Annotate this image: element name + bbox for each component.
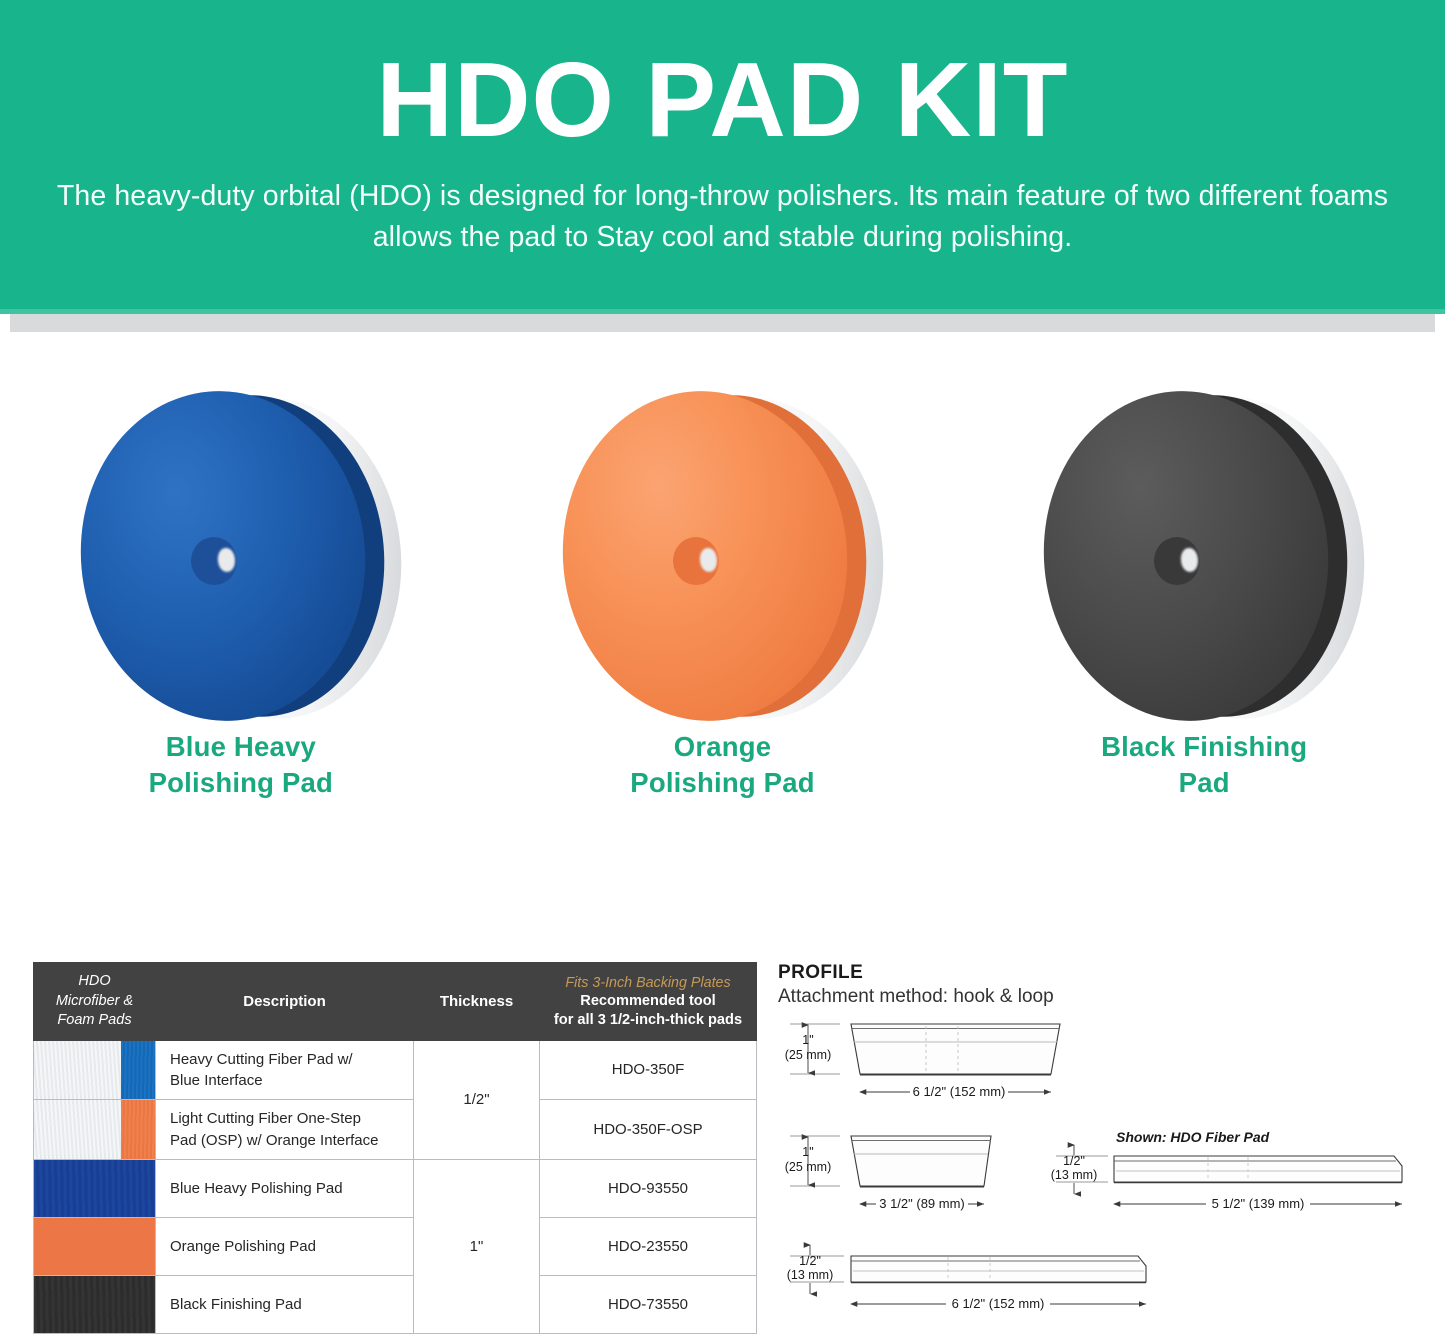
spec-table: HDO Microfiber & Foam Pads Description T…: [33, 962, 757, 1334]
desc-line-1: Light Cutting Fiber One-Step: [170, 1110, 361, 1127]
caption-line-1: Black Finishing: [1101, 731, 1307, 762]
dim-height-in: 1": [802, 1145, 813, 1159]
dim-width: 6 1/2" (152 mm): [913, 1084, 1006, 1099]
row-description: Heavy Cutting Fiber Pad w/ Blue Interfac…: [156, 1040, 414, 1100]
row-tool-code: HDO-350F-OSP: [540, 1100, 757, 1160]
hero-gray-band: [0, 314, 1445, 332]
swatch-header-line-3: Foam Pads: [57, 1012, 131, 1028]
product-blue-heavy-polishing-pad: Blue Heavy Polishing Pad: [0, 345, 482, 885]
table-row: Blue Heavy Polishing Pad 1" HDO-93550: [34, 1159, 757, 1217]
desc-line-2: Pad (OSP) w/ Orange Interface: [170, 1132, 378, 1149]
row-description: Orange Polishing Pad: [156, 1217, 414, 1275]
hero-banner: HDO PAD KIT The heavy-duty orbital (HDO)…: [0, 0, 1445, 309]
row-tool-code: HDO-73550: [540, 1275, 757, 1333]
dim-width: 3 1/2" (89 mm): [879, 1196, 965, 1211]
profile-heading: PROFILE: [778, 962, 1423, 984]
row-description: Light Cutting Fiber One-Step Pad (OSP) w…: [156, 1100, 414, 1160]
desc-line-1: Heavy Cutting Fiber Pad w/: [170, 1051, 353, 1068]
dim-height-in: 1/2": [1063, 1154, 1085, 1168]
backing-plates-note: Fits 3-Inch Backing Plates: [546, 974, 750, 993]
dim-width: 6 1/2" (152 mm): [952, 1296, 1045, 1311]
profile-diagram-foam-6in: 1" (25 mm) 6 1/2" (152 mm): [785, 1024, 1060, 1100]
profile-diagram-fiber-5in: Shown: HDO Fiber Pad 1/2" (13 mm) 5 1/2"…: [1051, 1129, 1402, 1212]
spec-table-body: Heavy Cutting Fiber Pad w/ Blue Interfac…: [34, 1040, 757, 1333]
row-swatch-light-cutting-fiber-osp: [34, 1100, 156, 1160]
shown-label: Shown: HDO Fiber Pad: [1116, 1129, 1270, 1145]
dim-width: 5 1/2" (139 mm): [1212, 1196, 1305, 1211]
row-swatch-blue-heavy-polishing: [34, 1159, 156, 1217]
infographic-page: HDO PAD KIT The heavy-duty orbital (HDO)…: [0, 0, 1445, 1337]
row-swatch-black-finishing: [34, 1275, 156, 1333]
orange-pad-image: [553, 345, 893, 715]
dim-height-in: 1/2": [799, 1254, 821, 1268]
hero-subtitle: The heavy-duty orbital (HDO) is designed…: [55, 176, 1390, 257]
desc-line-2: Blue Interface: [170, 1072, 263, 1089]
dim-height-in: 1": [802, 1033, 813, 1047]
gray-band-notch-left: [0, 314, 10, 332]
table-row: Heavy Cutting Fiber Pad w/ Blue Interfac…: [34, 1040, 757, 1100]
row-description: Black Finishing Pad: [156, 1275, 414, 1333]
spec-table-head: HDO Microfiber & Foam Pads Description T…: [34, 963, 757, 1041]
col-header-recommended-tool: Fits 3-Inch Backing Plates Recommended t…: [540, 963, 757, 1041]
table-row: Black Finishing Pad HDO-73550: [34, 1275, 757, 1333]
swatch-header-line-1: HDO: [78, 973, 110, 989]
desc-line-1: Black Finishing Pad: [170, 1296, 302, 1313]
product-caption: Orange Polishing Pad: [630, 729, 814, 801]
profile-panel: PROFILE Attachment method: hook & loop: [778, 962, 1423, 1334]
caption-line-1: Blue Heavy: [166, 731, 316, 762]
dim-height-mm: (25 mm): [785, 1160, 832, 1174]
col-header-description: Description: [156, 963, 414, 1041]
profile-diagram-fiber-6in: 1/2" (13 mm) 6 1/2" (152 mm): [787, 1245, 1146, 1312]
row-description: Blue Heavy Polishing Pad: [156, 1159, 414, 1217]
product-showcase: Blue Heavy Polishing Pad Orange Polishin…: [0, 345, 1445, 885]
col-header-swatch: HDO Microfiber & Foam Pads: [34, 963, 156, 1041]
product-caption: Black Finishing Pad: [1101, 729, 1307, 801]
table-header-row: HDO Microfiber & Foam Pads Description T…: [34, 963, 757, 1041]
tool-header-line-2: for all 3 1/2-inch-thick pads: [546, 1011, 750, 1029]
dim-height-mm: (13 mm): [787, 1268, 834, 1282]
row-thickness: 1": [414, 1159, 540, 1333]
dim-height-mm: (13 mm): [1051, 1168, 1098, 1182]
black-pad-image: [1034, 345, 1374, 715]
swatch-header-line-2: Microfiber &: [56, 993, 133, 1009]
row-tool-code: HDO-350F: [540, 1040, 757, 1100]
profile-diagrams: 1" (25 mm) 6 1/2" (152 mm) 1" (25 mm): [778, 1014, 1423, 1334]
row-thickness: 1/2": [414, 1040, 540, 1159]
col-header-thickness: Thickness: [414, 963, 540, 1041]
row-swatch-heavy-cutting-fiber: [34, 1040, 156, 1100]
profile-diagram-foam-3in: 1" (25 mm) 3 1/2" (89 mm): [785, 1136, 991, 1212]
table-row: Light Cutting Fiber One-Step Pad (OSP) w…: [34, 1100, 757, 1160]
desc-line-1: Orange Polishing Pad: [170, 1238, 316, 1255]
row-swatch-orange-polishing: [34, 1217, 156, 1275]
desc-line-1: Blue Heavy Polishing Pad: [170, 1180, 343, 1197]
gray-band-notch-right: [1435, 314, 1445, 332]
tool-header-line-1: Recommended tool: [546, 992, 750, 1010]
caption-line-2: Pad: [1179, 767, 1230, 798]
table-row: Orange Polishing Pad HDO-23550: [34, 1217, 757, 1275]
product-black-finishing-pad: Black Finishing Pad: [963, 345, 1445, 885]
page-title: HDO PAD KIT: [55, 46, 1390, 154]
dim-height-mm: (25 mm): [785, 1048, 832, 1062]
caption-line-1: Orange: [674, 731, 771, 762]
attachment-method: Attachment method: hook & loop: [778, 986, 1423, 1008]
caption-line-2: Polishing Pad: [630, 767, 814, 798]
row-tool-code: HDO-23550: [540, 1217, 757, 1275]
caption-line-2: Polishing Pad: [149, 767, 333, 798]
blue-pad-image: [71, 345, 411, 715]
product-caption: Blue Heavy Polishing Pad: [149, 729, 333, 801]
row-tool-code: HDO-93550: [540, 1159, 757, 1217]
product-orange-polishing-pad: Orange Polishing Pad: [482, 345, 964, 885]
